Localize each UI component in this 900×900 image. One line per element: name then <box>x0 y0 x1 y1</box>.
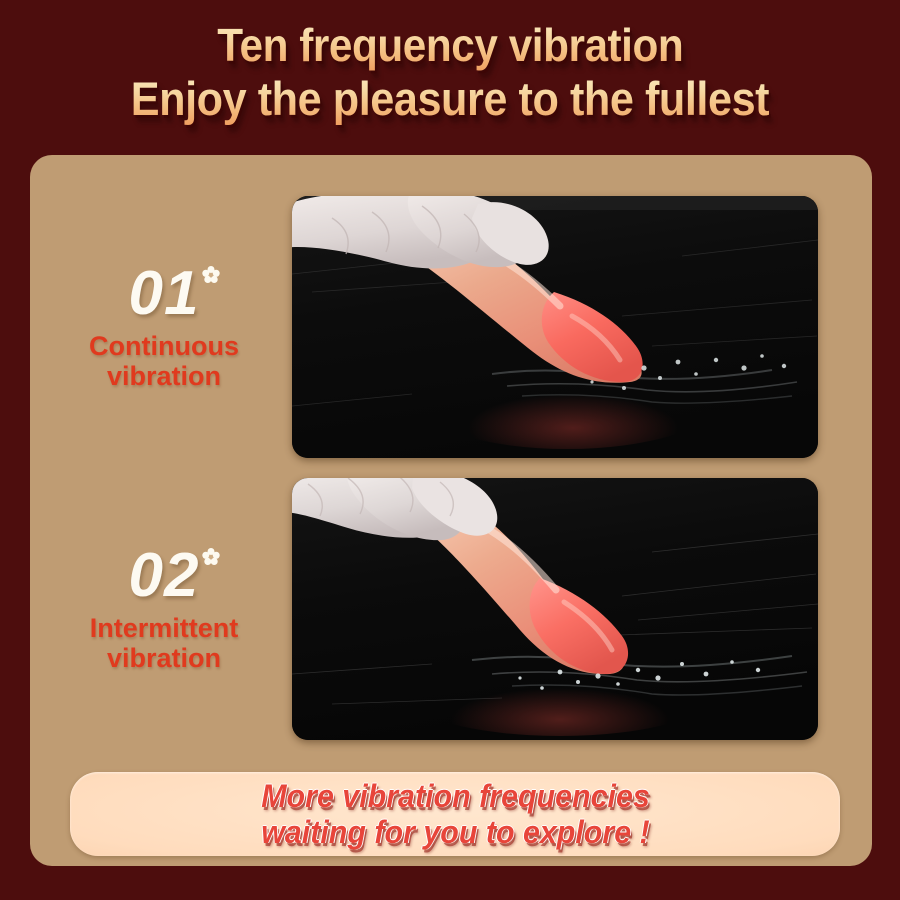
step-number-02: 02 <box>129 541 200 610</box>
promo-banner-line-2: waiting for you to explore ! <box>261 814 649 850</box>
step-title-01-line-2: vibration <box>107 361 221 391</box>
step-label-column-02: 02 Intermittent <box>30 545 292 673</box>
step-row-02: 02 Intermittent <box>30 478 872 740</box>
step-row-01: 01 Continuous vi <box>30 196 872 458</box>
product-photo-01 <box>292 196 818 458</box>
promo-banner: More vibration frequencies waiting for y… <box>70 772 840 856</box>
step-title-02-line-1: Intermittent <box>90 613 239 643</box>
step-label-column-01: 01 Continuous vi <box>30 263 292 391</box>
step-title-01: Continuous vibration <box>89 331 239 391</box>
step-title-02: Intermittent vibration <box>90 613 239 673</box>
headline-line-1: Ten frequency vibration <box>217 18 683 72</box>
headline-line-2: Enjoy the pleasure to the fullest <box>131 72 769 126</box>
flower-icon <box>201 547 221 567</box>
feature-card: 01 Continuous vi <box>30 155 872 866</box>
step-title-01-line-1: Continuous <box>89 331 239 361</box>
header-banner: Ten frequency vibration Enjoy the pleasu… <box>0 0 900 150</box>
flower-icon <box>201 265 221 285</box>
step-number-wrap-02: 02 <box>129 545 200 607</box>
step-number-01: 01 <box>129 259 200 328</box>
step-number-wrap-01: 01 <box>129 263 200 325</box>
step-title-02-line-2: vibration <box>107 643 221 673</box>
promo-banner-line-1: More vibration frequencies <box>261 778 650 814</box>
product-photo-02 <box>292 478 818 740</box>
